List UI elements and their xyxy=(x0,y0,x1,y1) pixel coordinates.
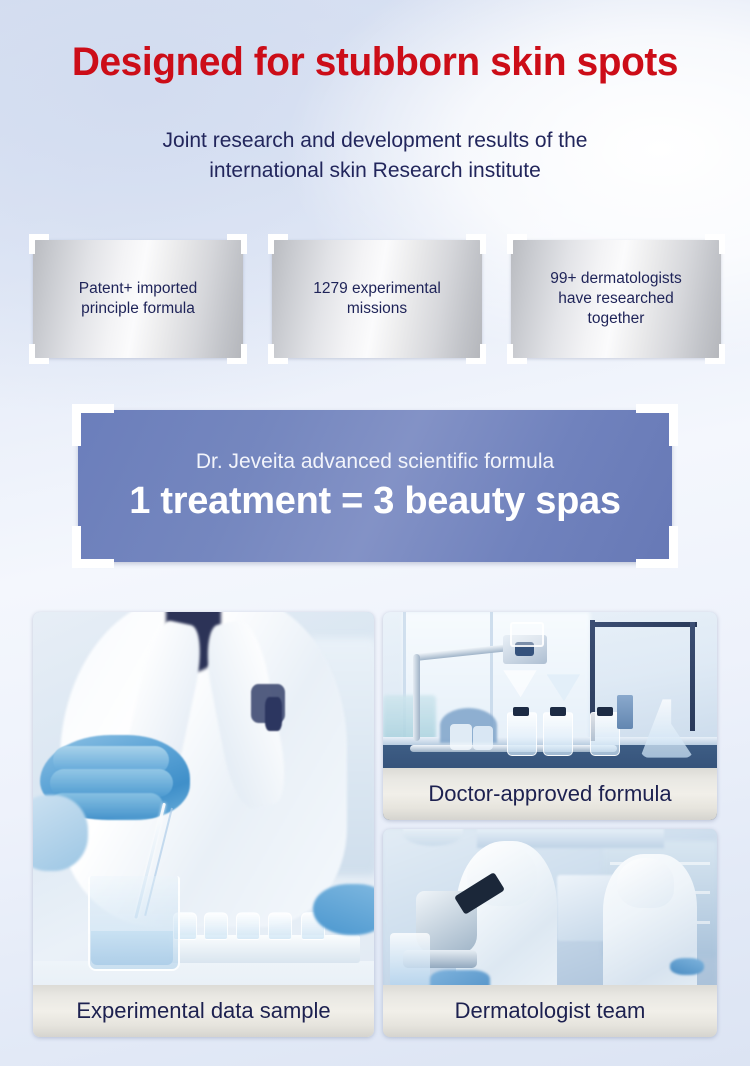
credential-badge-patent: Patent+ imported principle formula xyxy=(33,240,243,358)
corner-bracket-icon xyxy=(466,234,486,254)
formula-banner-subtitle: Dr. Jeveita advanced scientific formula xyxy=(196,450,554,474)
corner-bracket-icon xyxy=(705,234,725,254)
badge-line-1: 99+ dermatologists xyxy=(550,269,681,289)
photo-gallery: Experimental data sample xyxy=(33,612,717,1037)
photo-caption-text: Dermatologist team xyxy=(455,998,646,1024)
formula-banner: Dr. Jeveita advanced scientific formula … xyxy=(72,404,678,568)
gallery-left-column: Experimental data sample xyxy=(33,612,374,1037)
corner-bracket-icon xyxy=(466,344,486,364)
credential-badge-missions: 1279 experimental missions xyxy=(272,240,482,358)
credential-badge-row: Patent+ imported principle formula 1279 … xyxy=(33,240,721,358)
photo-caption-bar: Dermatologist team xyxy=(383,985,717,1037)
corner-bracket-icon xyxy=(268,234,288,254)
photo-caption-bar: Experimental data sample xyxy=(33,985,374,1037)
corner-bracket-icon xyxy=(29,344,49,364)
photo-caption-text: Doctor-approved formula xyxy=(428,781,671,807)
corner-bracket-icon xyxy=(705,344,725,364)
corner-bracket-icon xyxy=(507,234,527,254)
badge-line-3: together xyxy=(550,309,681,329)
formula-banner-headline: 1 treatment = 3 beauty spas xyxy=(129,480,620,523)
corner-bracket-icon xyxy=(268,344,288,364)
badge-text: 1279 experimental missions xyxy=(297,279,457,319)
badge-line-1: Patent+ imported xyxy=(79,279,197,299)
badge-line-2: missions xyxy=(313,299,441,319)
photo-card-experimental-sample: Experimental data sample xyxy=(33,612,374,1037)
page-subtitle: Joint research and development results o… xyxy=(0,126,750,186)
gallery-right-column: Doctor-approved formula Derma xyxy=(383,612,717,1037)
photo-image-pipette-lab xyxy=(33,612,374,1037)
photo-card-doctor-approved: Doctor-approved formula xyxy=(383,612,717,820)
photo-caption-text: Experimental data sample xyxy=(76,998,330,1024)
photo-caption-bar: Doctor-approved formula xyxy=(383,768,717,820)
credential-badge-dermatologists: 99+ dermatologists have researched toget… xyxy=(511,240,721,358)
subtitle-line-1: Joint research and development results o… xyxy=(0,126,750,156)
badge-line-2: have researched xyxy=(550,289,681,309)
formula-banner-body: Dr. Jeveita advanced scientific formula … xyxy=(78,410,672,562)
subtitle-line-2: international skin Research institute xyxy=(0,156,750,186)
badge-line-1: 1279 experimental xyxy=(313,279,441,299)
badge-text: 99+ dermatologists have researched toget… xyxy=(534,269,697,329)
promo-infographic: Designed for stubborn skin spots Joint r… xyxy=(0,0,750,1066)
corner-bracket-icon xyxy=(227,234,247,254)
page-title: Designed for stubborn skin spots xyxy=(11,40,739,85)
corner-bracket-icon xyxy=(507,344,527,364)
badge-text: Patent+ imported principle formula xyxy=(63,279,213,319)
photo-card-dermatologist-team: Dermatologist team xyxy=(383,829,717,1037)
corner-bracket-icon xyxy=(227,344,247,364)
corner-bracket-icon xyxy=(29,234,49,254)
badge-line-2: principle formula xyxy=(79,299,197,319)
